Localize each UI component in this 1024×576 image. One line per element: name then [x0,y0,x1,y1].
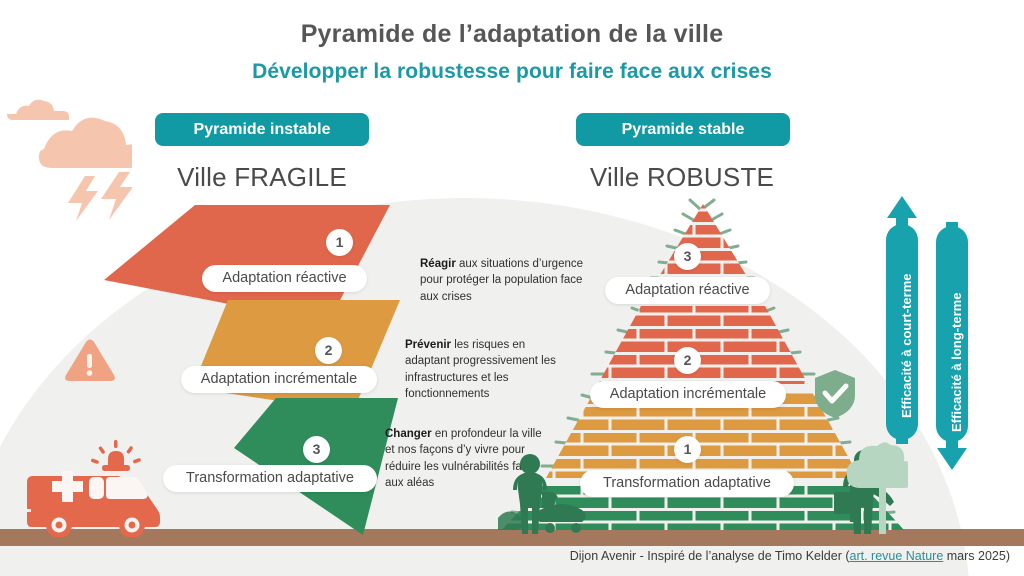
badge-pyramide-instable: Pyramide instable [155,113,369,146]
stable-number-1: 1 [674,436,701,463]
unstable-number-1: 1 [326,229,353,256]
footer-source-link[interactable]: art. revue Nature [850,549,944,563]
heading-ville-robuste: Ville ROBUSTE [532,162,832,193]
footer-credit: Dijon Avenir - Inspiré de l’analyse de T… [0,549,1010,563]
shield-check-icon [812,368,858,425]
ambulance-icon [14,437,164,542]
warning-triangle-icon [62,337,118,392]
page-title: Pyramide de l’adaptation de la ville [0,20,1024,49]
stable-label-transformation: Transformation adaptative [580,470,794,497]
stable-label-reactive: Adaptation réactive [605,277,770,304]
page-subtitle: Développer la robustesse pour faire face… [0,60,1024,84]
badge-pyramide-stable: Pyramide stable [576,113,790,146]
footer-suffix: mars 2025) [943,549,1010,563]
explanation-reagir-lead: Réagir [420,258,456,270]
unstable-number-2: 2 [315,337,342,364]
unstable-label-incremental: Adaptation incrémentale [181,366,377,393]
stable-number-3: 3 [674,243,701,270]
explanation-changer-lead: Changer [385,428,432,440]
unstable-label-reactive: Adaptation réactive [202,265,367,292]
unstable-label-transformation: Transformation adaptative [163,465,377,492]
heading-ville-fragile: Ville FRAGILE [112,162,412,193]
infographic-canvas: Pyramide de l’adaptation de la ville Dév… [0,0,1024,576]
arrow-label-long-terme: Efficacité à long-terme [949,293,964,432]
unstable-number-3: 3 [303,436,330,463]
stable-label-incremental: Adaptation incrémentale [590,381,786,408]
footer-prefix: Dijon Avenir - Inspiré de l’analyse de T… [570,549,850,563]
stable-number-2: 2 [674,347,701,374]
explanation-prevenir-lead: Prévenir [405,339,451,351]
arrow-label-court-terme: Efficacité à court-terme [899,274,914,419]
